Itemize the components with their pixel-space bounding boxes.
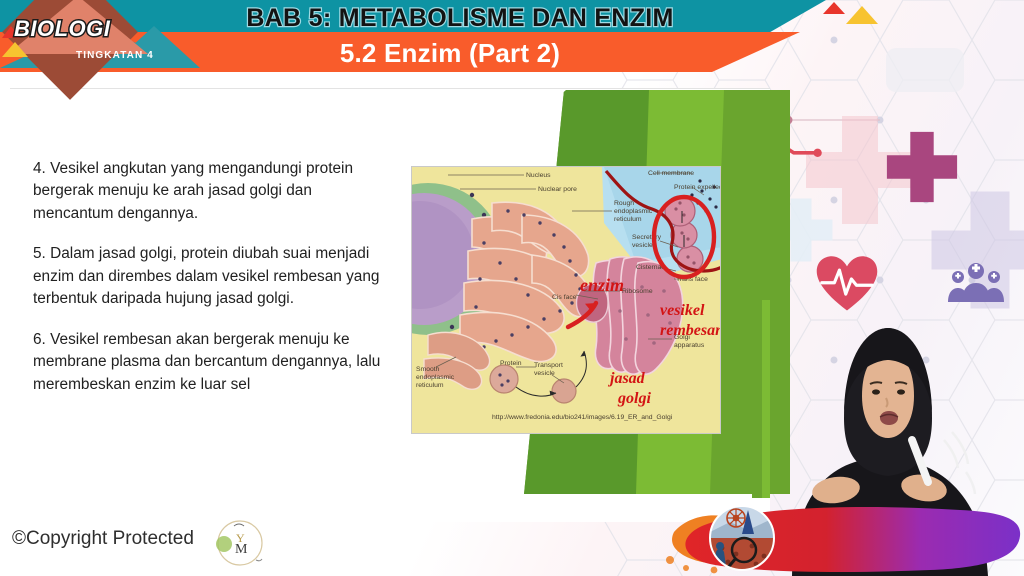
diagram-label-smooth-er-2: endoplasmic (416, 374, 455, 381)
diagram-label-golgi-2: apparatus (674, 342, 705, 349)
annotation-rembesan: rembesan (660, 322, 721, 339)
diagram-label-secretory-vesicle-2: vesicle (632, 242, 653, 249)
diagram-label-transport-vesicle-2: vesicle (534, 370, 555, 377)
annotation-vesikel: vesikel (660, 302, 705, 319)
red-triangle-accent-icon (823, 2, 845, 14)
logo-level-text: TINGKATAN 4 (76, 50, 154, 61)
medical-team-icon (945, 260, 1007, 302)
diagram-label-protein-expelled: Protein expelled (674, 184, 721, 191)
lesson-subtitle: 5.2 Enzim (Part 2) (120, 34, 780, 72)
body-paragraph-6: 6. Vesikel rembesan akan bergerak menuju… (33, 329, 383, 396)
copyright-text: ©Copyright Protected (12, 528, 194, 550)
diagram-label-rough-er-3: reticulum (614, 216, 642, 223)
diagram-label-ribosome: Ribosome (622, 288, 653, 295)
body-paragraph-4: 4. Vesikel angkutan yang mengandungi pro… (33, 158, 383, 225)
body-paragraph-5: 5. Dalam jasad golgi, protein diubah sua… (33, 243, 383, 310)
diagram-label-rough-er-1: Rough (614, 200, 634, 207)
diagram-label-transport-vesicle-1: Transport (534, 362, 563, 369)
logo-brand-text: BIOLOGI (14, 16, 194, 42)
cell-diagram-image: Nucleus Nuclear pore Rough endoplasmic r… (411, 166, 721, 434)
annotation-jasad: jasad (607, 370, 646, 387)
diagram-label-cell-membrane: Cell membrane (648, 170, 694, 177)
diagram-label-smooth-er-3: reticulum (416, 382, 444, 389)
svg-text:M: M (235, 542, 248, 557)
diagram-label-nuclear-pore: Nuclear pore (538, 186, 577, 193)
diagram-label-nucleus: Nucleus (526, 172, 551, 179)
diagram-label-cis-face: Cis face (552, 294, 577, 301)
biologi-logo: BIOLOGI TINGKATAN 4 (0, 0, 200, 76)
annotation-enzim: enzim (580, 275, 624, 295)
annotation-golgi: golgi (617, 390, 651, 407)
copyright-badge-logo: Y M (210, 516, 268, 574)
chapter-title: BAB 5: METABOLISME DAN ENZIM (130, 1, 790, 35)
diagram-label-rough-er-2: endoplasmic (614, 208, 653, 215)
slide-body-text: 4. Vesikel angkutan yang mengandungi pro… (33, 158, 383, 396)
logo-yellow-triangle-icon (2, 42, 28, 57)
diagram-label-protein: Protein (500, 360, 522, 367)
diagram-label-secretory-vesicle-1: Secretory (632, 234, 662, 241)
diagram-label-smooth-er-1: Smooth (416, 366, 440, 373)
yellow-triangle-accent-icon (846, 6, 878, 24)
teacher-name-banner (660, 498, 1024, 576)
diagram-source-caption: http://www.fredonia.edu/bio241/images/6.… (492, 414, 673, 421)
